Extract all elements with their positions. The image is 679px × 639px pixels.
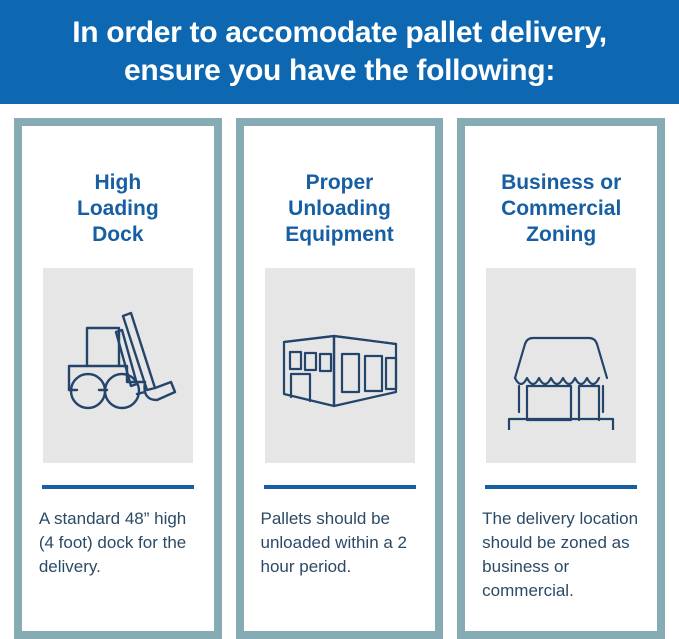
card-title-unloading-equipment: Proper Unloading Equipment xyxy=(285,170,394,248)
card-divider-zoning xyxy=(485,485,637,489)
card-body-loading-dock: A standard 48” high (4 foot) dock for th… xyxy=(39,507,197,579)
icon-container-zoning xyxy=(486,268,636,463)
card-body-unloading-equipment: Pallets should be unloaded within a 2 ho… xyxy=(261,507,419,579)
requirement-card-loading-dock: High Loading Dock xyxy=(14,118,222,639)
requirement-card-zoning: Business or Commercial Zoning xyxy=(457,118,665,639)
icon-container-loading-dock xyxy=(43,268,193,463)
card-title-loading-dock: High Loading Dock xyxy=(77,170,159,248)
infographic-root: In order to accomodate pallet delivery, … xyxy=(0,0,679,639)
card-divider-unloading-equipment xyxy=(264,485,416,489)
requirements-columns: High Loading Dock xyxy=(0,104,679,639)
card-title-zoning: Business or Commercial Zoning xyxy=(501,170,621,248)
header-banner: In order to accomodate pallet delivery, … xyxy=(0,0,679,104)
warehouse-building-icon xyxy=(278,302,402,430)
card-divider-loading-dock xyxy=(42,485,194,489)
forklift-icon xyxy=(59,302,177,430)
storefront-icon xyxy=(499,302,623,430)
card-body-zoning: The delivery location should be zoned as… xyxy=(482,507,640,603)
header-title-line-1: In order to accomodate pallet delivery, xyxy=(72,14,607,52)
header-title-line-2: ensure you have the following: xyxy=(124,52,555,90)
icon-container-unloading-equipment xyxy=(265,268,415,463)
requirement-card-unloading-equipment: Proper Unloading Equipment xyxy=(236,118,444,639)
